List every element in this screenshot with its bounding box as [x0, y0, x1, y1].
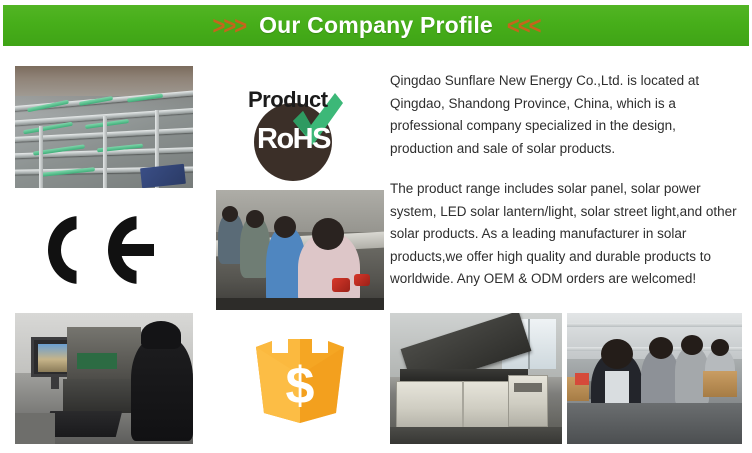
solar-panel-racks-photo [15, 66, 193, 188]
chevron-right-triple-icon: >>> [213, 13, 246, 38]
floor-area [567, 403, 742, 444]
shelf-rail [567, 323, 742, 327]
worker-head [246, 210, 264, 228]
worker-head [601, 339, 633, 369]
worker-head [711, 339, 729, 356]
worker-head [649, 337, 673, 359]
factory-floor [390, 427, 562, 444]
ce-certification-mark [15, 190, 193, 310]
keyboard [44, 411, 122, 437]
money-box-graphic: $ [248, 331, 352, 427]
product-part [332, 278, 350, 292]
ce-letter-e-icon [108, 216, 160, 284]
product-part [354, 274, 370, 286]
worker-shirt [605, 371, 629, 405]
packaging-workers-photo [567, 313, 742, 444]
company-description-paragraph-1: Qingdao Sunflare New Energy Co.,Ltd. is … [390, 70, 742, 160]
worker-head [274, 216, 296, 238]
rack-post [103, 116, 107, 188]
desk-edge [15, 413, 55, 444]
monitor-stand [51, 377, 59, 389]
chevron-left-triple-icon: <<< [507, 13, 540, 38]
panel-seam [462, 381, 464, 431]
dollar-sign-glyph: $ [286, 357, 315, 415]
rack-post [39, 126, 43, 188]
computer-testing-photo [15, 313, 193, 444]
company-description-paragraph-2: The product range includes solar panel, … [390, 178, 742, 291]
dollar-box-icon: $ [216, 313, 384, 444]
rohs-certification-logo: Product RoHS [216, 66, 384, 188]
page-header-banner: >>> Our Company Profile <<< [3, 5, 749, 46]
rack-clamp [85, 119, 129, 129]
pcb-board [77, 353, 117, 369]
carton-box [703, 371, 737, 397]
worker-head [222, 206, 238, 222]
solar-cell-panel [140, 164, 186, 188]
worker-head [681, 335, 703, 355]
bench-shadow [216, 298, 384, 310]
workshop-background [15, 66, 193, 96]
control-panel [514, 383, 542, 392]
product-part [575, 373, 589, 385]
assembly-line-workers-photo [216, 190, 384, 310]
technician-figure [131, 337, 193, 441]
laminator-machine-photo [390, 313, 562, 444]
worker-head [312, 218, 344, 250]
page-title: Our Company Profile [259, 14, 493, 37]
technician-cap [141, 321, 181, 349]
rohs-product-label: Product [248, 87, 328, 113]
rohs-main-label: RoHS [257, 123, 330, 156]
ce-letter-c-icon [48, 216, 100, 284]
